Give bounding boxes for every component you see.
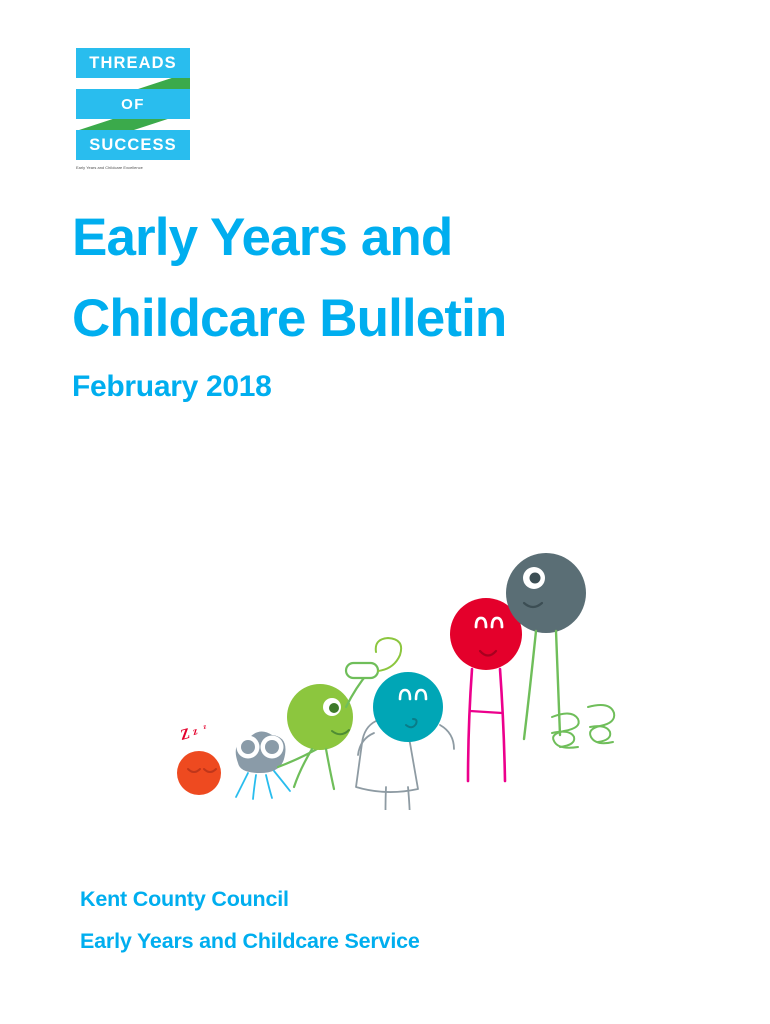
svg-text:z: z	[191, 725, 200, 738]
logo-bar-of: OF	[76, 89, 190, 119]
logo-bar-threads-label: THREADS	[89, 55, 176, 72]
figure-standing-child	[450, 598, 522, 781]
logo-bar-of-label: OF	[121, 97, 145, 112]
logo-block: THREADS OF SUCCESS Early Years and Child…	[76, 48, 194, 171]
figure-sleeping-baby: Z z z	[177, 722, 221, 795]
child-development-illustration: Z z z	[160, 535, 620, 810]
threads-of-success-logo: THREADS OF SUCCESS	[76, 48, 190, 160]
bulletin-cover-page: THREADS OF SUCCESS Early Years and Child…	[0, 0, 770, 1024]
footer-organisation: Kent County Council	[80, 878, 680, 920]
figure-child-in-dress	[356, 672, 454, 810]
svg-text:z: z	[201, 722, 207, 731]
svg-text:Z: Z	[178, 726, 192, 744]
logo-bar-success: SUCCESS	[76, 130, 190, 160]
footer-block: Kent County Council Early Years and Chil…	[80, 878, 680, 962]
green-scribbles	[552, 705, 614, 748]
logo-tagline: Early Years and Childcare Excellence	[76, 166, 196, 171]
footer-service: Early Years and Childcare Service	[80, 920, 680, 962]
page-title-block: Early Years and Childcare Bulletin Febru…	[72, 197, 712, 404]
logo-bar-success-label: SUCCESS	[89, 137, 176, 154]
page-title-line-1: Early Years and	[72, 197, 712, 278]
page-title-line-2: Childcare Bulletin	[72, 278, 712, 359]
issue-date: February 2018	[72, 370, 712, 404]
logo-bar-threads: THREADS	[76, 48, 190, 78]
